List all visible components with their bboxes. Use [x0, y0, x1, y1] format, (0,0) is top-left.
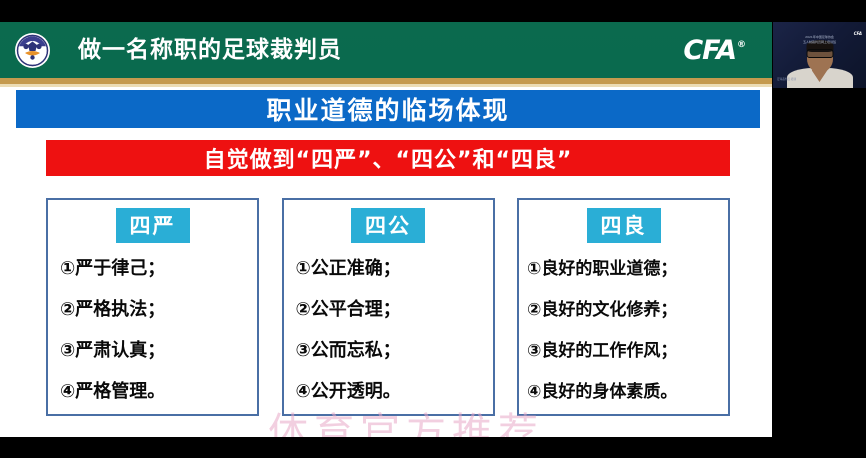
column-badge: 四公: [351, 208, 425, 243]
column-item-list: ①严于律己； ②严格执法； ③严肃认真； ④严格管理。: [48, 246, 257, 410]
list-item: ①严于律己；: [54, 254, 251, 280]
video-overlay-title: 2021年中国足球协会 五人制裁判员网上培训班: [803, 35, 836, 44]
cfa-wordmark: CFA®: [683, 35, 744, 66]
header-gold-rule-light: [0, 84, 772, 87]
presenter-glasses-icon: [806, 49, 833, 58]
list-item: ①良好的职业道德；: [525, 254, 722, 279]
list-item: ②严格执法；: [54, 295, 251, 321]
slide-blue-title-bar: 职业道德的临场体现: [16, 90, 760, 128]
video-corner-caption: 足球裁判员 培训: [777, 77, 796, 81]
list-item: ④严格管理。: [54, 377, 251, 403]
slide-red-banner: 自觉做到“四严”、“四公”和“四良”: [46, 140, 730, 176]
list-item: ①公正准确；: [290, 254, 487, 280]
column-badge: 四严: [116, 208, 190, 243]
column-badge: 四良: [587, 208, 661, 243]
slide-columns: 四严 ①严于律己； ②严格执法； ③严肃认真； ④严格管理。 四公 ①公正准确；…: [46, 198, 730, 416]
column-box-siyan: 四严 ①严于律己； ②严格执法； ③严肃认真； ④严格管理。: [46, 198, 259, 416]
screenshot-root: 做一名称职的足球裁判员 CFA® 职业道德的临场体现 自觉做到“四严”、“四公”…: [0, 0, 866, 458]
cfa-wordmark-text: CFA: [683, 35, 736, 66]
video-overlay-line2: 五人制裁判员网上培训班: [803, 40, 836, 45]
list-item: ③严肃认真；: [54, 336, 251, 362]
slide-blue-title-text: 职业道德的临场体现: [266, 91, 509, 127]
slide-header-band: 做一名称职的足球裁判员 CFA®: [0, 22, 772, 78]
column-box-sigong: 四公 ①公正准确； ②公平合理； ③公而忘私； ④公开透明。: [282, 198, 495, 416]
list-item: ④公开透明。: [290, 377, 487, 403]
video-overlay-line1: 2021年中国足球协会: [803, 35, 836, 40]
slide-red-banner-text: 自觉做到“四严”、“四公”和“四良”: [204, 142, 573, 174]
cfa-crest-icon: [14, 32, 51, 69]
slide-header-title: 做一名称职的足球裁判员: [78, 22, 342, 78]
list-item: ④良好的身体素质。: [525, 377, 722, 402]
list-item: ②良好的文化修养；: [525, 295, 722, 320]
presentation-slide: 做一名称职的足球裁判员 CFA® 职业道德的临场体现 自觉做到“四严”、“四公”…: [0, 22, 772, 437]
column-item-list: ①良好的职业道德； ②良好的文化修养； ③良好的工作作风； ④良好的身体素质。: [519, 246, 728, 410]
column-item-list: ①公正准确； ②公平合理； ③公而忘私； ④公开透明。: [284, 246, 493, 410]
registered-mark-icon: ®: [737, 40, 745, 50]
list-item: ②公平合理；: [290, 295, 487, 321]
presenter-video-thumbnail[interactable]: 2021年中国足球协会 五人制裁判员网上培训班 CFA 足球裁判员 培训: [773, 22, 866, 88]
video-cfa-logo: CFA: [854, 31, 862, 36]
column-box-siliang: 四良 ①良好的职业道德； ②良好的文化修养； ③良好的工作作风； ④良好的身体素…: [517, 198, 730, 416]
list-item: ③公而忘私；: [290, 336, 487, 362]
list-item: ③良好的工作作风；: [525, 336, 722, 361]
